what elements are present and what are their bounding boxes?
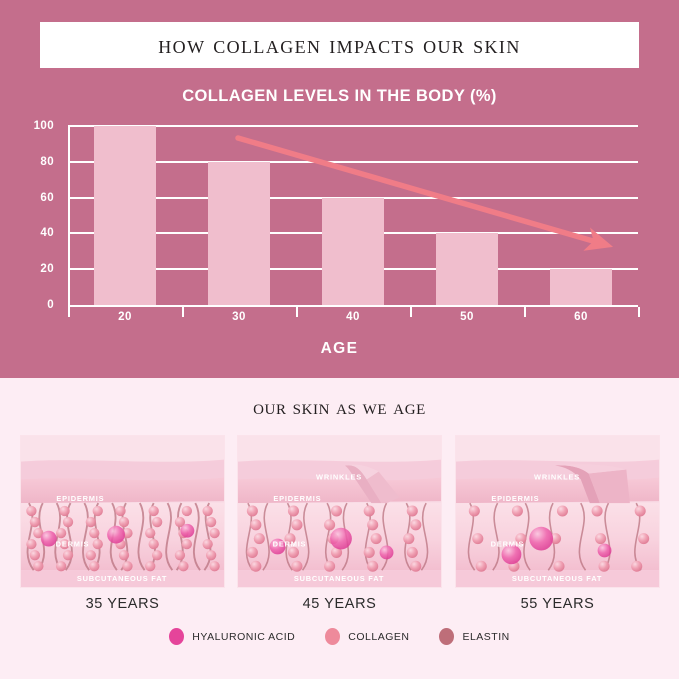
skin-section-title: Our Skin As We Age — [0, 394, 679, 420]
page-title: HOW COLLAGEN IMPACTS OUR SKIN — [158, 30, 520, 60]
panel-year-label: 55 YEARS — [455, 596, 660, 612]
subcutaneous-fat-label: SUBCUTANEOUS FAT — [294, 574, 384, 583]
chart-bar — [550, 269, 612, 305]
x-axis-tick-label: 60 — [574, 311, 588, 323]
chart-bar — [208, 162, 270, 305]
legend-label: HYALURONIC ACID — [192, 631, 295, 643]
epidermis-label: EPIDERMIS — [273, 494, 321, 503]
dermis-label: DERMIS — [273, 540, 307, 549]
legend-label: COLLAGEN — [348, 631, 409, 643]
skin-cross-section-diagram: WRINKLESEPIDERMISDERMISSUBCUTANEOUS FAT — [238, 436, 441, 587]
x-axis-tick-label: 40 — [346, 311, 360, 323]
x-axis-tick-label: 30 — [232, 311, 246, 323]
legend: HYALURONIC ACIDCOLLAGENELASTIN — [0, 628, 679, 645]
y-axis-tick-label: 100 — [34, 120, 54, 132]
y-axis-tick-label: 60 — [40, 192, 54, 204]
x-axis-tick — [182, 307, 184, 317]
epidermis-label: EPIDERMIS — [491, 494, 539, 503]
x-axis-tick — [638, 307, 640, 317]
chart-plot-area — [68, 126, 638, 305]
chart-bar — [94, 126, 156, 305]
legend-color-dot — [439, 628, 454, 645]
x-axis-line — [68, 305, 638, 307]
panel-year-label: 45 YEARS — [237, 596, 442, 612]
legend-item: COLLAGEN — [325, 628, 409, 645]
chart-bar — [436, 233, 498, 305]
skin-panel: WRINKLESEPIDERMISDERMISSUBCUTANEOUS FAT — [237, 435, 442, 588]
x-axis-tick-label: 50 — [460, 311, 474, 323]
x-axis-tick — [524, 307, 526, 317]
chart-bar — [322, 198, 384, 305]
x-axis-tick-label: 20 — [118, 311, 132, 323]
skin-cross-section-diagram: WRINKLESEPIDERMISDERMISSUBCUTANEOUS FAT — [456, 436, 659, 587]
x-axis-tick — [68, 307, 70, 317]
legend-label: ELASTIN — [462, 631, 509, 643]
skin-panel: WRINKLESEPIDERMISDERMISSUBCUTANEOUS FAT — [455, 435, 660, 588]
title-banner: HOW COLLAGEN IMPACTS OUR SKIN — [40, 22, 639, 68]
epidermis-label: EPIDERMIS — [56, 494, 104, 503]
wrinkles-label: WRINKLES — [316, 472, 362, 481]
legend-item: ELASTIN — [439, 628, 509, 645]
chart-subtitle: COLLAGEN LEVELS IN THE BODY (%) — [0, 87, 679, 106]
collagen-chart-section: HOW COLLAGEN IMPACTS OUR SKIN COLLAGEN L… — [0, 0, 679, 378]
y-axis-labels: 020406080100 — [0, 126, 62, 305]
infographic-page: HOW COLLAGEN IMPACTS OUR SKIN COLLAGEN L… — [0, 0, 679, 679]
dermis-label: DERMIS — [491, 540, 525, 549]
subcutaneous-fat-label: SUBCUTANEOUS FAT — [512, 574, 602, 583]
legend-item: HYALURONIC ACID — [169, 628, 295, 645]
y-axis-tick-label: 20 — [40, 263, 54, 275]
skin-aging-section: Our Skin As We Age HYALURONIC ACIDCOLLAG… — [0, 378, 679, 679]
x-axis-tick — [410, 307, 412, 317]
dermis-label: DERMIS — [56, 540, 90, 549]
legend-color-dot — [325, 628, 340, 645]
legend-color-dot — [169, 628, 184, 645]
skin-panel: EPIDERMISDERMISSUBCUTANEOUS FAT — [20, 435, 225, 588]
wrinkles-label: WRINKLES — [534, 472, 580, 481]
y-axis-tick-label: 80 — [40, 156, 54, 168]
subcutaneous-fat-label: SUBCUTANEOUS FAT — [77, 574, 167, 583]
y-axis-tick-label: 0 — [47, 299, 54, 311]
skin-cross-section-diagram: EPIDERMISDERMISSUBCUTANEOUS FAT — [21, 436, 224, 587]
x-axis-tick — [296, 307, 298, 317]
y-axis-tick-label: 40 — [40, 227, 54, 239]
x-axis-title: AGE — [0, 340, 679, 358]
panel-year-label: 35 YEARS — [20, 596, 225, 612]
